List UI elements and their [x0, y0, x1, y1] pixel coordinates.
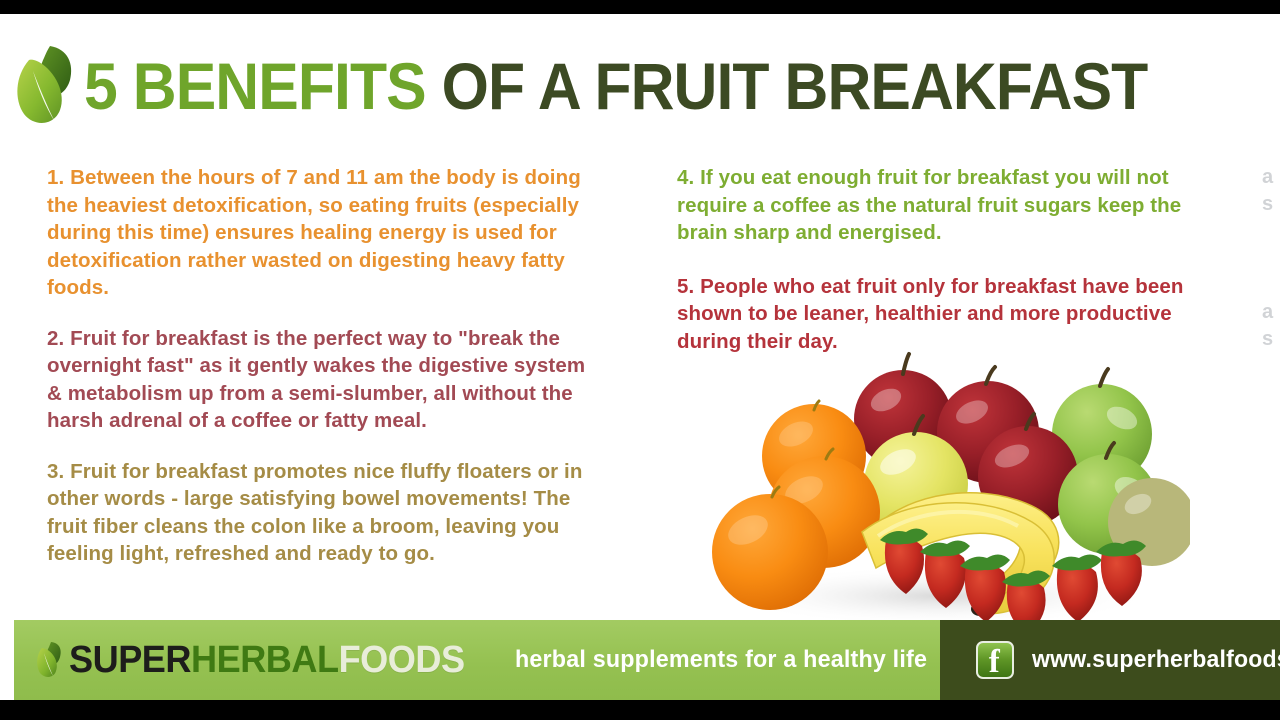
benefit-item-2: 2. Fruit for breakfast is the perfect wa… — [47, 325, 592, 435]
letterbox-bottom-bar — [0, 700, 1280, 720]
website-url[interactable]: www.superherbalfoods.com — [1032, 646, 1280, 674]
benefit-item-3: 3. Fruit for breakfast promotes nice flu… — [47, 458, 592, 568]
infographic-slide: 5 BENEFITS OF A FRUIT BREAKFAST 1. Betwe… — [0, 14, 1280, 700]
footer-social-bar: f www.superherbalfoods.com — [940, 620, 1280, 700]
footer: SUPERHERBALFOODS herbal supplements for … — [14, 620, 1280, 700]
footer-brand-bar: SUPERHERBALFOODS herbal supplements for … — [14, 620, 940, 700]
brand-foods: FOODS — [339, 639, 465, 681]
benefit-item-1: 1. Between the hours of 7 and 11 am the … — [47, 164, 592, 302]
header: 5 BENEFITS OF A FRUIT BREAKFAST — [14, 36, 1264, 136]
fruit-photo — [690, 344, 1190, 634]
benefit-item-5: 5. People who eat fruit only for breakfa… — [677, 273, 1232, 356]
brand-wordmark: SUPERHERBALFOODS — [69, 641, 465, 679]
brand-super: SUPER — [69, 639, 191, 681]
slide-stage: 5 BENEFITS OF A FRUIT BREAKFAST 1. Betwe… — [0, 0, 1280, 720]
facebook-letter: f — [989, 647, 1000, 677]
letterbox-top-bar — [0, 0, 1280, 14]
brand-tagline: herbal supplements for a healthy life — [515, 646, 927, 674]
title-green-part: 5 BENEFITS — [84, 49, 426, 123]
facebook-icon[interactable]: f — [976, 641, 1014, 679]
page-title: 5 BENEFITS OF A FRUIT BREAKFAST — [84, 53, 1147, 119]
benefit-item-4: 4. If you eat enough fruit for breakfast… — [677, 164, 1232, 247]
brand-herbal: HERBAL — [191, 639, 339, 681]
leaf-logo-icon — [36, 640, 62, 680]
title-dark-part: OF A FRUIT BREAKFAST — [426, 49, 1148, 123]
leaf-logo-icon — [14, 42, 76, 130]
benefits-left-column: 1. Between the hours of 7 and 11 am the … — [47, 164, 592, 568]
edge-bleed-text: as ... as — [1262, 164, 1280, 353]
